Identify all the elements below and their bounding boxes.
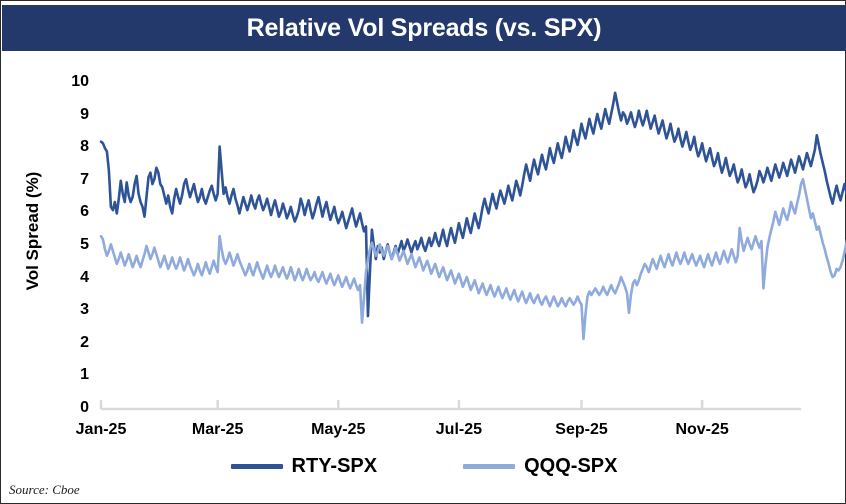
legend-label: RTY-SPX bbox=[292, 455, 378, 478]
page-title: Relative Vol Spreads (vs. SPX) bbox=[247, 14, 602, 43]
legend-color-swatch bbox=[231, 464, 283, 469]
legend-item-qqq-spx[interactable]: QQQ-SPX bbox=[463, 455, 617, 478]
series-line-qqq-spx bbox=[101, 179, 846, 339]
chart-title-bar: Relative Vol Spreads (vs. SPX) bbox=[2, 5, 846, 51]
plot-area: Vol Spread (%) 109876543210 Jan-25Mar-25… bbox=[1, 51, 846, 451]
line-chart-svg bbox=[1, 51, 846, 451]
axis-lines bbox=[101, 400, 801, 409]
series-lines bbox=[101, 93, 846, 339]
chart-legend: RTY-SPXQQQ-SPX bbox=[1, 449, 846, 483]
legend-color-swatch bbox=[463, 464, 515, 469]
source-note: Source: Cboe bbox=[9, 482, 80, 498]
legend-label: QQQ-SPX bbox=[524, 455, 617, 478]
chart-card: Relative Vol Spreads (vs. SPX) Vol Sprea… bbox=[0, 0, 846, 504]
legend-item-rty-spx[interactable]: RTY-SPX bbox=[231, 455, 378, 478]
